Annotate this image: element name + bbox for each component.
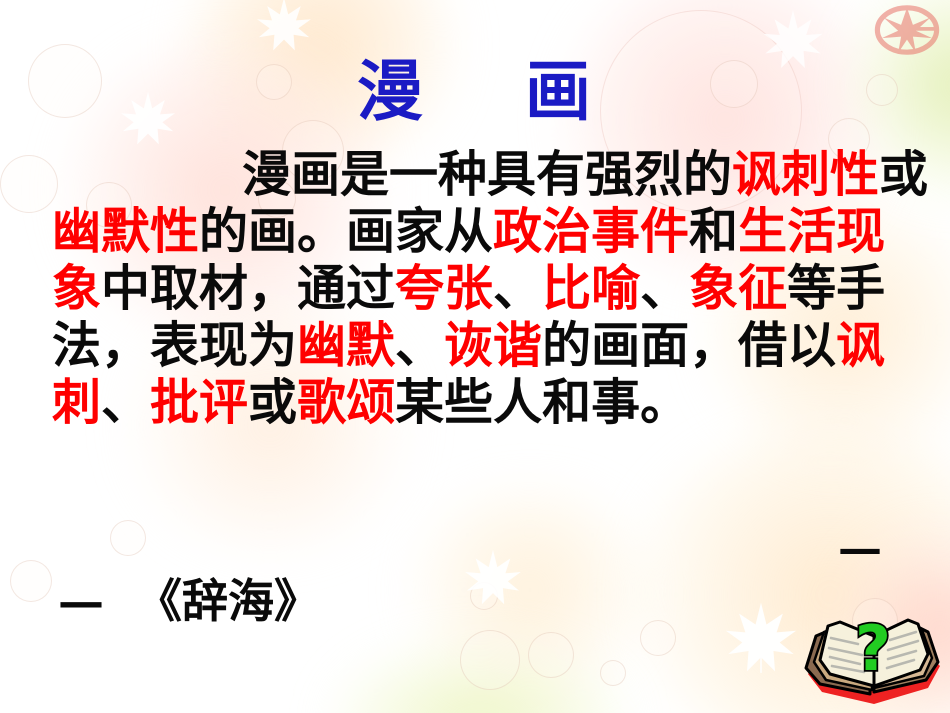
- definition-paragraph: 漫画是一种具有强烈的讽刺性或幽默性的画。画家从政治事件和生活现象中取材，通过夸张…: [52, 146, 932, 431]
- highlight-term-fengcixing: 讽刺性: [732, 146, 879, 203]
- text-run: 、: [101, 374, 150, 431]
- svg-text:?: ?: [855, 612, 891, 685]
- highlight-term-zhengzhishijian: 政治事件: [493, 203, 689, 260]
- text-run: 的画。画家从: [199, 203, 493, 260]
- highlight-term-biyu: 比喻: [542, 260, 640, 317]
- highlight-term-youmo: 幽默: [297, 317, 395, 374]
- text-run: 漫画是一种具有强烈的: [242, 146, 732, 203]
- page-title: 漫 画: [0, 38, 950, 134]
- text-run: 、: [640, 260, 689, 317]
- presentation-slide: 漫 画 漫画是一种具有强烈的讽刺性或幽默性的画。画家从政治事件和生活现象中取材，…: [0, 0, 950, 713]
- text-run: 或: [879, 146, 928, 203]
- text-run: 的画面，借以: [542, 317, 836, 374]
- highlight-term-xiangzheng: 象征: [689, 260, 787, 317]
- slide-content: 漫 画 漫画是一种具有强烈的讽刺性或幽默性的画。画家从政治事件和生活现象中取材，…: [0, 0, 950, 713]
- text-run: 中取材，通过: [101, 260, 395, 317]
- text-run: 、: [395, 317, 444, 374]
- source-attribution: — 《辞海》: [58, 578, 320, 624]
- highlight-term-youmoxing: 幽默性: [52, 203, 199, 260]
- highlight-term-huixie: 诙谐: [444, 317, 542, 374]
- highlight-term-kuazhang: 夸张: [395, 260, 493, 317]
- text-run: 或: [248, 374, 297, 431]
- open-book-question-mark-icon: ?: [800, 608, 946, 708]
- text-run: 、: [493, 260, 542, 317]
- highlight-term-gesong: 歌颂: [297, 374, 395, 431]
- trailing-dash: —: [838, 527, 882, 571]
- text-run: 和: [689, 203, 738, 260]
- highlight-term-piping: 批评: [150, 374, 248, 431]
- text-run: 某些人和事。: [395, 374, 689, 431]
